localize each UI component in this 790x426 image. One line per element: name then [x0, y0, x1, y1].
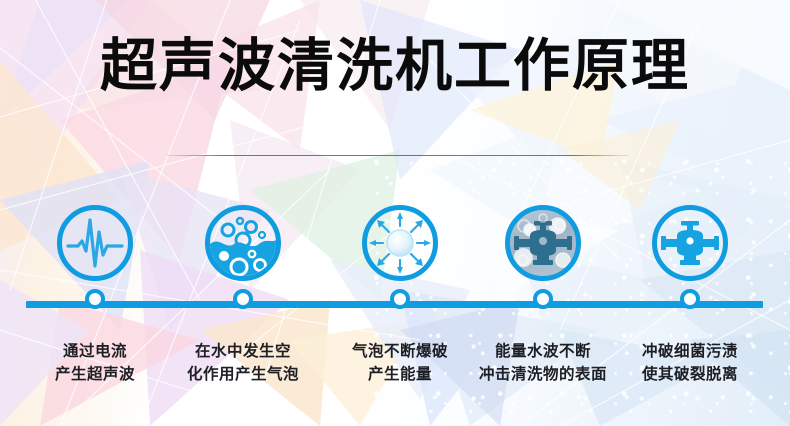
step-5-icon-frame [652, 205, 728, 281]
step-3 [320, 205, 480, 281]
step-5-caption: 冲破细菌污渍 使其破裂脱离 [585, 340, 790, 386]
step-2 [163, 205, 323, 281]
page-title: 超声波清洗机工作原理 [0, 38, 790, 95]
step-1-icon-frame [57, 205, 133, 281]
step-5-caption-line-1: 冲破细菌污渍 [585, 340, 790, 363]
poster-canvas: 超声波清洗机工作原理 [0, 0, 790, 426]
waveform-pulse-icon [62, 210, 128, 276]
step-2-icon-frame [205, 205, 281, 281]
clean-valve-icon [657, 210, 723, 276]
timeline-node-5 [680, 289, 700, 309]
timeline-node-3 [390, 289, 410, 309]
step-5 [610, 205, 770, 281]
bursting-bubble-icon [367, 210, 433, 276]
dirty-valve-in-water-icon [510, 210, 576, 276]
step-1 [15, 205, 175, 281]
step-5-caption-line-2: 使其破裂脱离 [585, 363, 790, 386]
title-block: 超声波清洗机工作原理 [0, 38, 790, 95]
step-4 [463, 205, 623, 281]
bubbles-in-water-icon [210, 210, 276, 276]
step-3-icon-frame [362, 205, 438, 281]
title-divider [166, 155, 628, 156]
step-4-icon-frame [505, 205, 581, 281]
timeline-node-1 [85, 289, 105, 309]
timeline-node-2 [233, 289, 253, 309]
timeline-node-4 [533, 289, 553, 309]
